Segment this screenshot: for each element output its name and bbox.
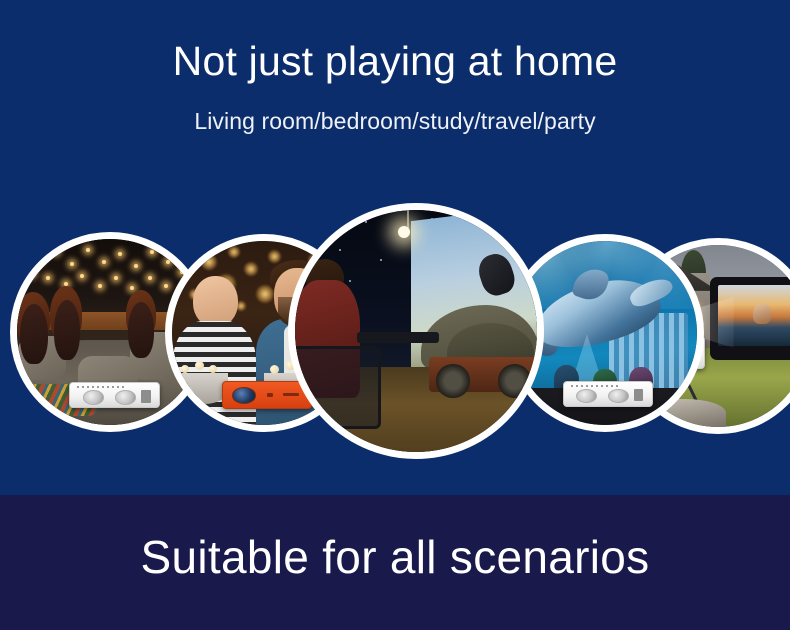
scene-circle-strip — [0, 190, 790, 475]
projector-device-living-room — [69, 382, 160, 408]
page-subtitle: Living room/bedroom/study/travel/party — [0, 108, 790, 135]
page-title: Not just playing at home — [0, 38, 790, 85]
scene-artwork-camping — [288, 203, 544, 459]
banner-headline: Suitable for all scenarios — [0, 530, 790, 584]
scene-circle-camping — [288, 203, 544, 459]
promo-poster: Not just playing at home Living room/bed… — [0, 0, 790, 630]
projector-device-dolphin-bedroom — [563, 381, 653, 407]
